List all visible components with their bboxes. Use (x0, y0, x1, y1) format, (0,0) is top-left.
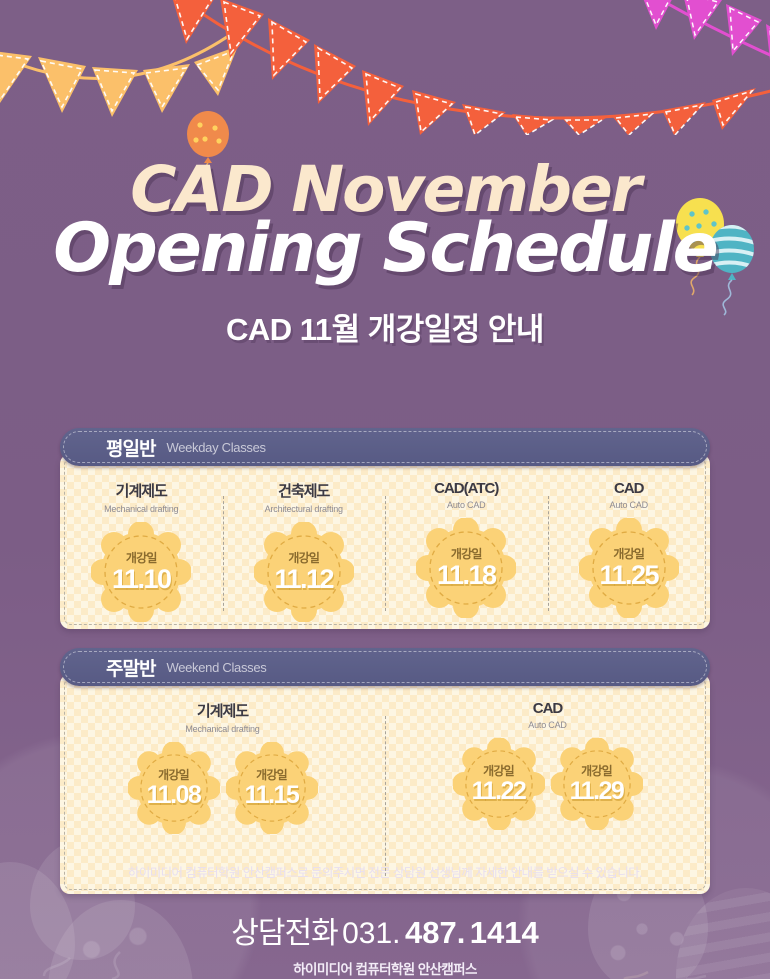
course-column: 기계제도 Mechanical drafting (60, 694, 385, 894)
bunting-strand-yellow (0, 28, 240, 117)
course-name-en: Auto CAD (610, 500, 648, 510)
badge-label: 개강일 (599, 548, 658, 560)
course-column: CAD Auto CAD (548, 474, 711, 629)
poster-root: CAD November Opening Schedule CAD 11월 개강… (0, 0, 770, 979)
bunting-strand-orange (170, 0, 770, 135)
section-weekend: 주말반 Weekend Classes 기계제도 Mechanical draf… (60, 648, 710, 894)
footer-block: 상담전화 031. 487. 1414 하이미디어 컴퓨터학원 안산캠퍼스 (0, 908, 770, 978)
start-date-badge[interactable]: 개강일 11.18 (416, 518, 516, 618)
phone-label: 상담전화 (231, 917, 337, 950)
badge-date: 11.29 (570, 779, 624, 804)
course-name-en: Architectural drafting (265, 504, 343, 514)
course-name-en: Auto CAD (447, 500, 485, 510)
start-date-badge[interactable]: 개강일 11.22 (453, 738, 545, 830)
badge-group: 개강일 11.10 (91, 522, 191, 622)
course-column: CAD Auto CAD (385, 694, 710, 894)
badge-date: 11.08 (147, 783, 201, 808)
section-body-weekday: 기계제도 Mechanical drafting (60, 454, 710, 629)
start-date-badge[interactable]: 개강일 11.29 (551, 738, 643, 830)
course-name-ko: 기계제도 (197, 700, 248, 721)
badge-label: 개강일 (274, 552, 333, 564)
section-body-weekend: 기계제도 Mechanical drafting (60, 674, 710, 894)
section-header-weekday: 평일반 Weekday Classes (60, 428, 710, 466)
badge-group: 개강일 11.08 (128, 742, 318, 834)
course-name-en: Mechanical drafting (185, 724, 259, 734)
badge-label: 개강일 (245, 769, 299, 781)
badge-label: 개강일 (472, 765, 526, 777)
badge-group: 개강일 11.12 (254, 522, 354, 622)
start-date-badge[interactable]: 개강일 11.12 (254, 522, 354, 622)
badge-date: 11.18 (437, 562, 496, 589)
brand-name: 하이미디어 컴퓨터학원 안산캠퍼스 (0, 958, 770, 978)
course-name-ko: 기계제도 (116, 480, 167, 501)
section-weekday: 평일반 Weekday Classes 기계제도 Mechanical draf… (60, 428, 710, 629)
section-title-en: Weekend Classes (166, 660, 266, 675)
course-column: CAD(ATC) Auto CAD (385, 474, 548, 629)
course-columns-weekday: 기계제도 Mechanical drafting (60, 474, 710, 629)
badge-label: 개강일 (570, 765, 624, 777)
course-name-ko: CAD (614, 480, 644, 497)
badge-date: 11.15 (245, 783, 299, 808)
badge-label: 개강일 (147, 769, 201, 781)
badge-label: 개강일 (112, 552, 171, 564)
course-name-ko: CAD(ATC) (434, 480, 498, 497)
badge-group: 개강일 11.25 (579, 518, 679, 618)
phone-prefix: 031. (342, 917, 400, 950)
start-date-badge[interactable]: 개강일 11.15 (226, 742, 318, 834)
start-date-badge[interactable]: 개강일 11.08 (128, 742, 220, 834)
start-date-badge[interactable]: 개강일 11.10 (91, 522, 191, 622)
badge-date: 11.22 (472, 779, 526, 804)
phone-last: 1414 (470, 915, 539, 950)
phone-mid: 487. (405, 915, 465, 950)
course-column: 건축제도 Architectural drafting (223, 474, 386, 629)
course-name-en: Mechanical drafting (104, 504, 178, 514)
course-name-ko: CAD (533, 700, 563, 717)
section-title-en: Weekday Classes (166, 440, 265, 455)
course-columns-weekend: 기계제도 Mechanical drafting (60, 694, 710, 894)
badge-label: 개강일 (437, 548, 496, 560)
title-block: CAD November Opening Schedule CAD 11월 개강… (0, 160, 770, 349)
section-title-ko: 평일반 (106, 434, 155, 461)
badge-date: 11.10 (112, 566, 171, 593)
start-date-badge[interactable]: 개강일 11.25 (579, 518, 679, 618)
section-header-weekend: 주말반 Weekend Classes (60, 648, 710, 686)
bunting-decoration (0, 0, 770, 135)
section-title-ko: 주말반 (106, 654, 155, 681)
subtitle: CAD 11월 개강일정 안내 (0, 304, 770, 349)
badge-group: 개강일 11.18 (416, 518, 516, 618)
course-column: 기계제도 Mechanical drafting (60, 474, 223, 629)
badge-group: 개강일 11.22 (453, 738, 643, 830)
course-name-ko: 건축제도 (278, 480, 329, 501)
phone-line[interactable]: 상담전화 031. 487. 1414 (0, 908, 770, 952)
bunting-strand-pink (638, 0, 770, 78)
badge-date: 11.25 (599, 562, 658, 589)
badge-date: 11.12 (274, 566, 333, 593)
course-name-en: Auto CAD (528, 720, 566, 730)
title-line-2: Opening Schedule (0, 216, 770, 281)
